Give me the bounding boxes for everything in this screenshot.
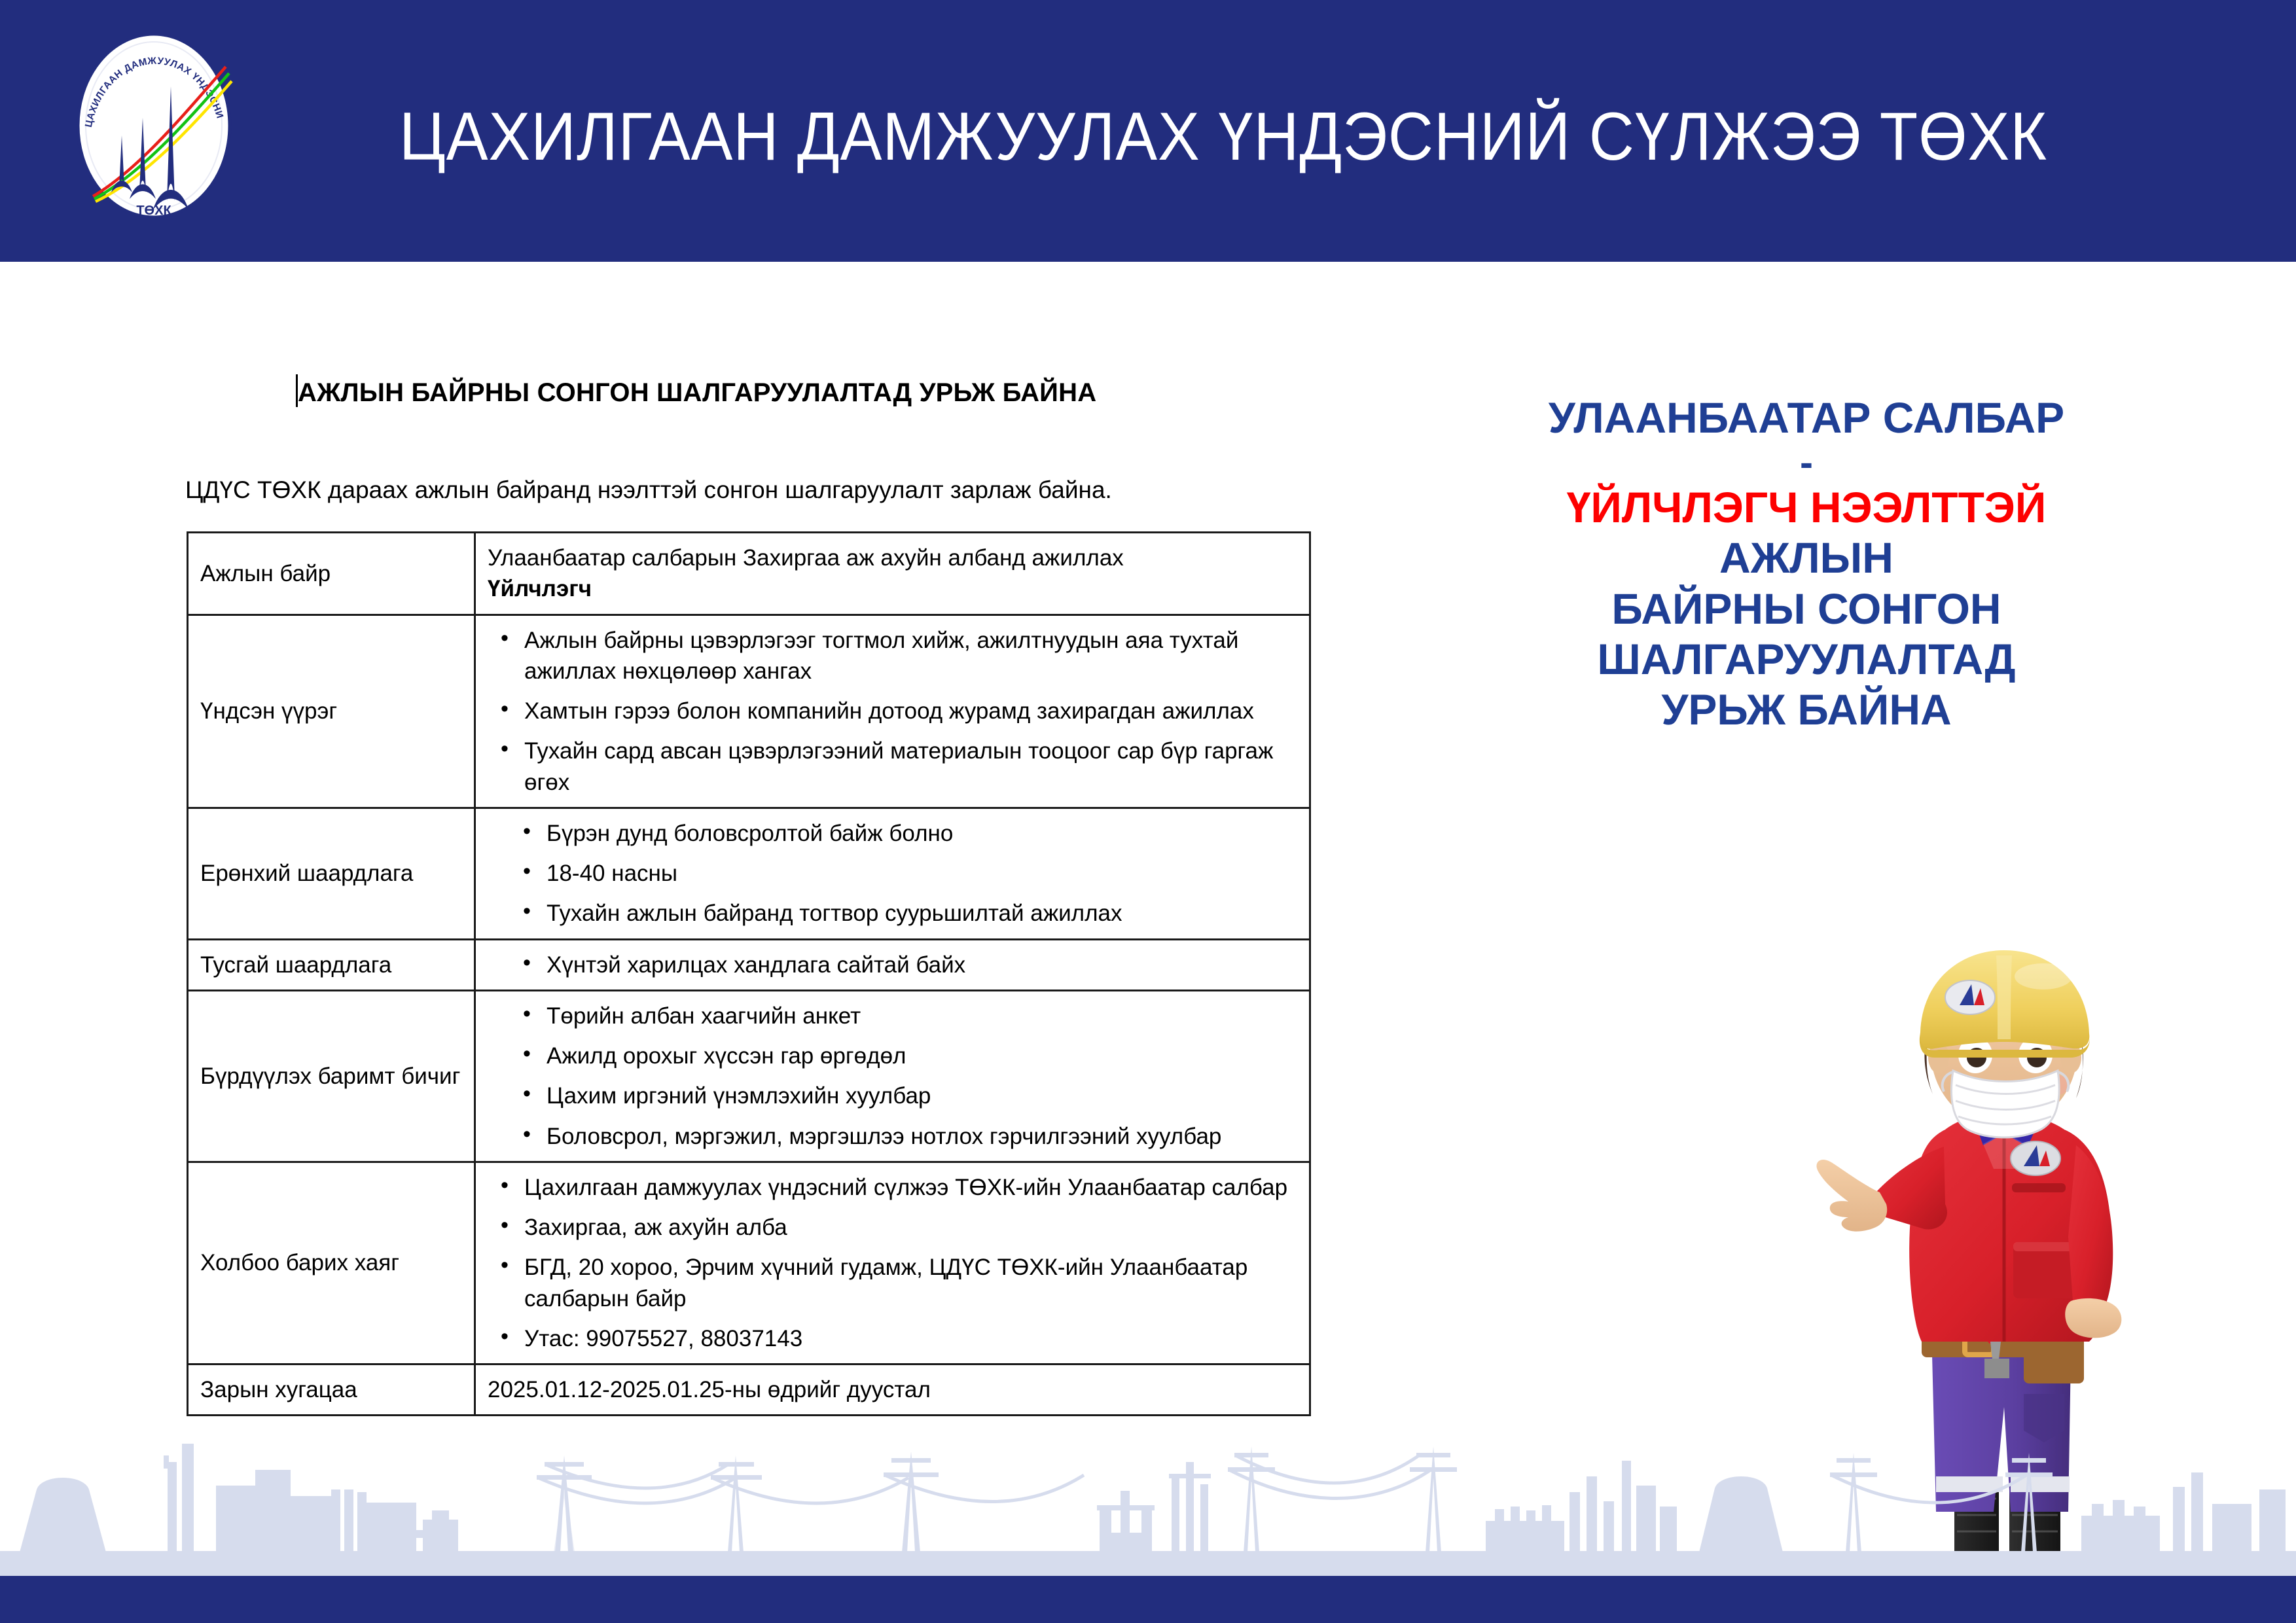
table-row: Бүрдүүлэх баримт бичиг Төрийн албан хааг… xyxy=(188,990,1310,1162)
list-item: Цахим иргэний үнэмлэхийн хуулбар xyxy=(547,1080,1297,1111)
promo-dash: - xyxy=(1440,443,2173,482)
list-item: Ажилд орохыг хүссэн гар өргөдөл xyxy=(547,1041,1297,1071)
table-row: Үндсэн үүрэг Ажлын байрны цэвэрлэгээг то… xyxy=(188,615,1310,808)
list-item: Бүрэн дунд боловсролтой байж болно xyxy=(547,818,1297,849)
worker-mascot-illustration xyxy=(1793,936,2212,1597)
row-label: Бүрдүүлэх баримт бичиг xyxy=(188,990,475,1162)
bullet-list: Хүнтэй харилцах хандлага сайтай байх xyxy=(488,950,1297,980)
list-item: БГД, 20 хороо, Эрчим хүчний гудамж, ЦДҮС… xyxy=(524,1252,1297,1314)
promo-line-6: УРЬЖ БАЙНА xyxy=(1440,685,2173,735)
bullet-list: Төрийн албан хаагчийн анкет Ажилд орохыг… xyxy=(488,1001,1297,1152)
list-item: Тухайн сард авсан цэвэрлэгээний материал… xyxy=(524,736,1297,798)
promo-line-4: БАЙРНЫ СОНГОН xyxy=(1440,584,2173,634)
list-item: 18-40 насны xyxy=(547,858,1297,889)
list-item: Тухайн ажлын байранд тогтвор суурьшилтай… xyxy=(547,898,1297,929)
table-row: Ерөнхий шаардлага Бүрэн дунд боловсролто… xyxy=(188,808,1310,939)
footer-bar xyxy=(0,1576,2296,1623)
list-item: Боловсрол, мэргэжил, мэргэшлээ нотлох гэ… xyxy=(547,1121,1297,1152)
row-label: Үндсэн үүрэг xyxy=(188,615,475,808)
company-logo: ЦАХИЛГААН ДАМЖУУЛАХ ҮНДЭСНИЙ СҮЛЖЭЭ ТӨХК xyxy=(65,21,242,230)
table-row: Ажлын байр Улаанбаатар салбарын Захиргаа… xyxy=(188,533,1310,615)
value-line: Улаанбаатар салбарын Захиргаа аж ахуйн а… xyxy=(488,543,1297,573)
row-label: Холбоо барих хаяг xyxy=(188,1162,475,1364)
row-value: Бүрэн дунд боловсролтой байж болно 18-40… xyxy=(475,808,1310,939)
bullet-list: Бүрэн дунд боловсролтой байж болно 18-40… xyxy=(488,818,1297,929)
row-value: Төрийн албан хаагчийн анкет Ажилд орохыг… xyxy=(475,990,1310,1162)
table-row: Зарын хугацаа 2025.01.12-2025.01.25-ны ө… xyxy=(188,1364,1310,1416)
row-value: 2025.01.12-2025.01.25-ны өдрийг дуустал xyxy=(475,1364,1310,1416)
document-heading: АЖЛЫН БАЙРНЫ СОНГОН ШАЛГАРУУЛАЛТАД УРЬЖ … xyxy=(298,378,1096,408)
value-line-bold: Үйлчлэгч xyxy=(488,573,1297,604)
bullet-list: Ажлын байрны цэвэрлэгээг тогтмол хийж, а… xyxy=(488,625,1297,798)
list-item: Ажлын байрны цэвэрлэгээг тогтмол хийж, а… xyxy=(524,625,1297,687)
promo-line-5: ШАЛГАРУУЛАЛТАД xyxy=(1440,634,2173,685)
list-item: Захиргаа, аж ахуйн алба xyxy=(524,1212,1297,1243)
row-label: Зарын хугацаа xyxy=(188,1364,475,1416)
page-header: ЦАХИЛГААН ДАМЖУУЛАХ ҮНДЭСНИЙ СҮЛЖЭЭ ТӨХК… xyxy=(0,0,2296,262)
header-divider xyxy=(0,262,2296,267)
row-value: Улаанбаатар салбарын Захиргаа аж ахуйн а… xyxy=(475,533,1310,615)
page-title: ЦАХИЛГААН ДАМЖУУЛАХ ҮНДЭСНИЙ СҮЛЖЭЭ ТӨХК xyxy=(399,98,2061,176)
row-value: Хүнтэй харилцах хандлага сайтай байх xyxy=(475,939,1310,990)
list-item: Хүнтэй харилцах хандлага сайтай байх xyxy=(547,950,1297,980)
bullet-list: Цахилгаан дамжуулах үндэсний сүлжээ ТӨХК… xyxy=(488,1172,1297,1354)
table-row: Тусгай шаардлага Хүнтэй харилцах хандлаг… xyxy=(188,939,1310,990)
hard-hat xyxy=(1920,950,2090,1058)
promo-line-branch: УЛААНБААТАР САЛБАР xyxy=(1440,393,2173,443)
row-value: Ажлын байрны цэвэрлэгээг тогтмол хийж, а… xyxy=(475,615,1310,808)
list-item: Хамтын гэрээ болон компанийн дотоод жура… xyxy=(524,696,1297,726)
table-row: Холбоо барих хаяг Цахилгаан дамжуулах үн… xyxy=(188,1162,1310,1364)
list-item: Төрийн албан хаагчийн анкет xyxy=(547,1001,1297,1031)
job-details-table: Ажлын байр Улаанбаатар салбарын Захиргаа… xyxy=(187,531,1311,1416)
list-item: Цахилгаан дамжуулах үндэсний сүлжээ ТӨХК… xyxy=(524,1172,1297,1203)
promo-line-3: АЖЛЫН xyxy=(1440,533,2173,583)
svg-text:ТӨХК: ТӨХК xyxy=(136,204,171,218)
row-label: Ерөнхий шаардлага xyxy=(188,808,475,939)
row-value: Цахилгаан дамжуулах үндэсний сүлжээ ТӨХК… xyxy=(475,1162,1310,1364)
document-intro: ЦДҮС ТӨХК дараах ажлын байранд нээлттэй … xyxy=(185,476,1112,504)
row-label: Ажлын байр xyxy=(188,533,475,615)
row-label: Тусгай шаардлага xyxy=(188,939,475,990)
promo-line-position: ҮЙЛЧЛЭГЧ НЭЭЛТТЭЙ xyxy=(1440,482,2173,533)
list-item: Утас: 99075527, 88037143 xyxy=(524,1323,1297,1354)
promo-block: УЛААНБААТАР САЛБАР - ҮЙЛЧЛЭГЧ НЭЭЛТТЭЙ А… xyxy=(1440,393,2173,735)
pointing-arm xyxy=(1816,1147,1947,1232)
